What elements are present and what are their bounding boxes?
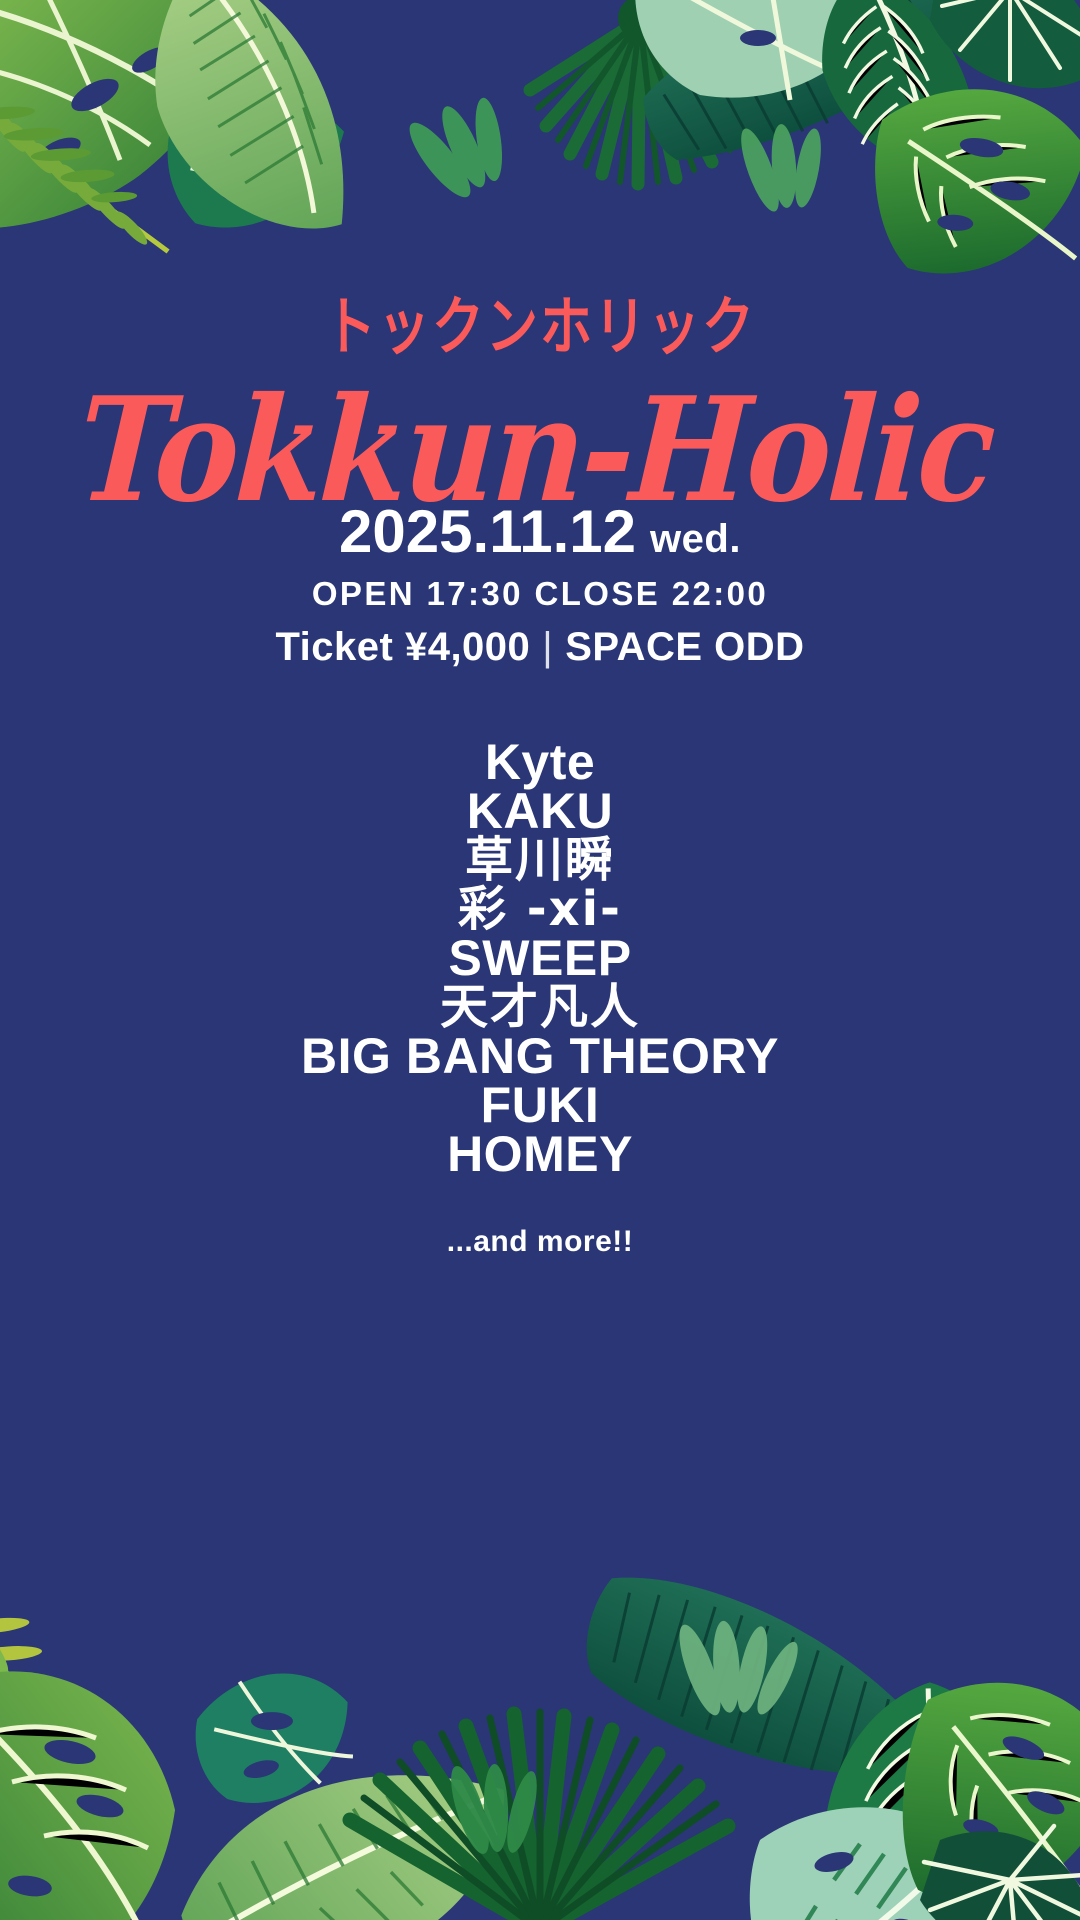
tropical-foliage-bottom [0,1560,1080,1920]
lineup-item: 草川瞬 [0,836,1080,885]
ticket-price: Ticket ¥4,000 [275,625,530,669]
lineup-item: BIG BANG THEORY [0,1032,1080,1081]
lineup-item: 天才凡人 [0,983,1080,1032]
lineup-item: Kyte [0,738,1080,787]
lineup-item: HOMEY [0,1130,1080,1179]
tropical-foliage-top [0,0,1080,300]
ticket-venue-line: Ticket ¥4,000|SPACE ODD [0,625,1080,670]
katakana-title: トックンホリック [0,296,1080,359]
lineup-item: FUKI [0,1081,1080,1130]
logo-block: トックンホリック Tokkun-Holic [0,296,1080,504]
event-info-block: 2025.11.12wed. OPEN 17:30 CLOSE 22:00 Ti… [0,500,1080,670]
event-date-line: 2025.11.12wed. [0,500,1080,563]
venue-name: SPACE ODD [565,625,804,669]
event-weekday: wed. [650,517,741,561]
lineup-item: 彩 -xi- [0,885,1080,934]
event-date: 2025.11.12 [339,498,636,565]
separator: | [542,625,553,670]
and-more-label: ...and more!! [0,1225,1080,1259]
lineup-item: SWEEP [0,934,1080,983]
lineup-item: KAKU [0,787,1080,836]
lineup-block: Kyte KAKU 草川瞬 彩 -xi- SWEEP 天才凡人 BIG BANG… [0,738,1080,1259]
event-poster: トックンホリック Tokkun-Holic 2025.11.12wed. OPE… [0,0,1080,1920]
event-hours: OPEN 17:30 CLOSE 22:00 [0,575,1080,613]
